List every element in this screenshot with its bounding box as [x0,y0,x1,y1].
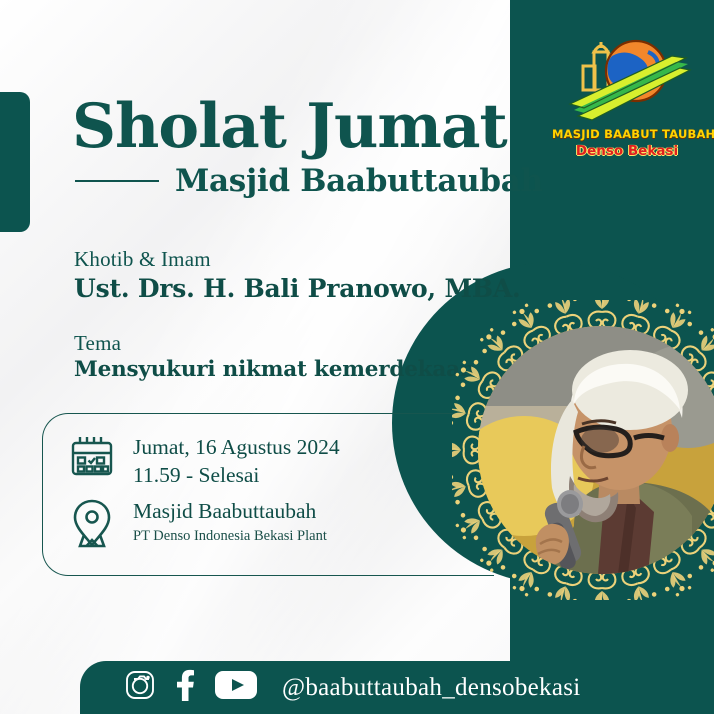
event-venue-sub: PT Denso Indonesia Bekasi Plant [133,527,327,546]
topic-block: Tema Mensyukuri nikmat kemerdekaan [74,330,504,384]
headline-divider [75,180,159,182]
left-accent-bar [0,92,30,232]
calendar-icon [69,434,115,482]
speaker-portrait [452,300,714,600]
topic-label: Tema [74,330,504,356]
location-text: Masjid Baabuttaubah PT Denso Indonesia B… [133,498,327,545]
event-date: Jumat, 16 Agustus 2024 [133,434,340,462]
mosque-globe-logo-icon [552,22,702,126]
location-row: Masjid Baabuttaubah PT Denso Indonesia B… [69,498,327,546]
speaker-block: Khotib & Imam Ust. Drs. H. Bali Pranowo,… [74,246,494,305]
speaker-name: Ust. Drs. H. Bali Pranowo, MBA. [74,273,494,304]
event-details-box: Jumat, 16 Agustus 2024 11.59 - Selesai M… [42,413,494,576]
headline-block: Sholat Jumat Masjid Baabuttaubah [72,96,502,199]
page-title: Sholat Jumat [72,96,502,157]
poster-canvas: MASJID BAABUT TAUBAH Denso Bekasi Sholat… [0,0,714,714]
speaker-role-label: Khotib & Imam [74,246,494,272]
instagram-icon[interactable] [124,669,156,706]
headline-subtitle-row: Masjid Baabuttaubah [72,163,502,199]
facebook-icon[interactable] [172,669,198,706]
logo-line-2: Denso Bekasi [552,143,702,159]
event-venue: Masjid Baabuttaubah [133,498,327,526]
youtube-icon[interactable] [214,669,258,706]
social-handle: @baabuttaubah_densobekasi [282,674,581,702]
organization-logo: MASJID BAABUT TAUBAH Denso Bekasi [552,22,702,172]
event-time: 11.59 - Selesai [133,462,340,490]
social-footer-bar: @baabuttaubah_densobekasi [80,661,714,714]
date-time-row: Jumat, 16 Agustus 2024 11.59 - Selesai [69,434,340,489]
map-pin-icon [69,498,115,546]
headline-subtitle: Masjid Baabuttaubah [175,163,543,199]
date-time-text: Jumat, 16 Agustus 2024 11.59 - Selesai [133,434,340,489]
speaker-photo [478,326,714,574]
logo-line-1: MASJID BAABUT TAUBAH [552,127,702,141]
topic-value: Mensyukuri nikmat kemerdekaan [74,357,504,384]
